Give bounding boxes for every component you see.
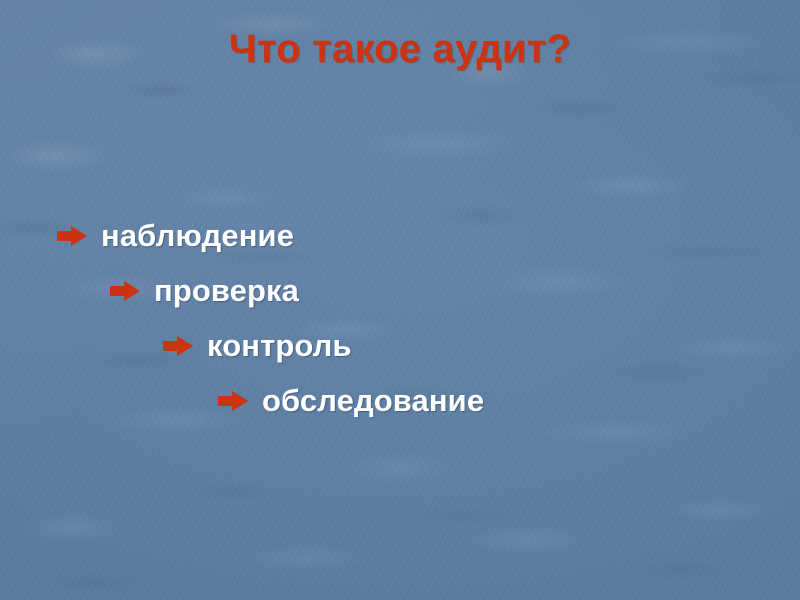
right-arrow-icon — [163, 335, 193, 357]
bullet-item-1: наблюдение — [0, 208, 800, 263]
bullet-item-2: проверка — [0, 263, 800, 318]
bullet-item-3: контроль — [0, 318, 800, 373]
presentation-slide: Что такое аудит? наблюдение проверка кон… — [0, 0, 800, 600]
right-arrow-icon — [57, 225, 87, 247]
right-arrow-icon — [218, 390, 248, 412]
bullet-item-label: наблюдение — [101, 218, 294, 254]
bullet-item-label: обследование — [262, 383, 484, 419]
bullet-list: наблюдение проверка контроль обследовани… — [0, 208, 800, 428]
right-arrow-icon — [110, 280, 140, 302]
bullet-item-label: проверка — [154, 273, 299, 309]
bullet-item-4: обследование — [0, 373, 800, 428]
bullet-item-label: контроль — [207, 328, 352, 364]
slide-title: Что такое аудит? — [0, 27, 800, 72]
